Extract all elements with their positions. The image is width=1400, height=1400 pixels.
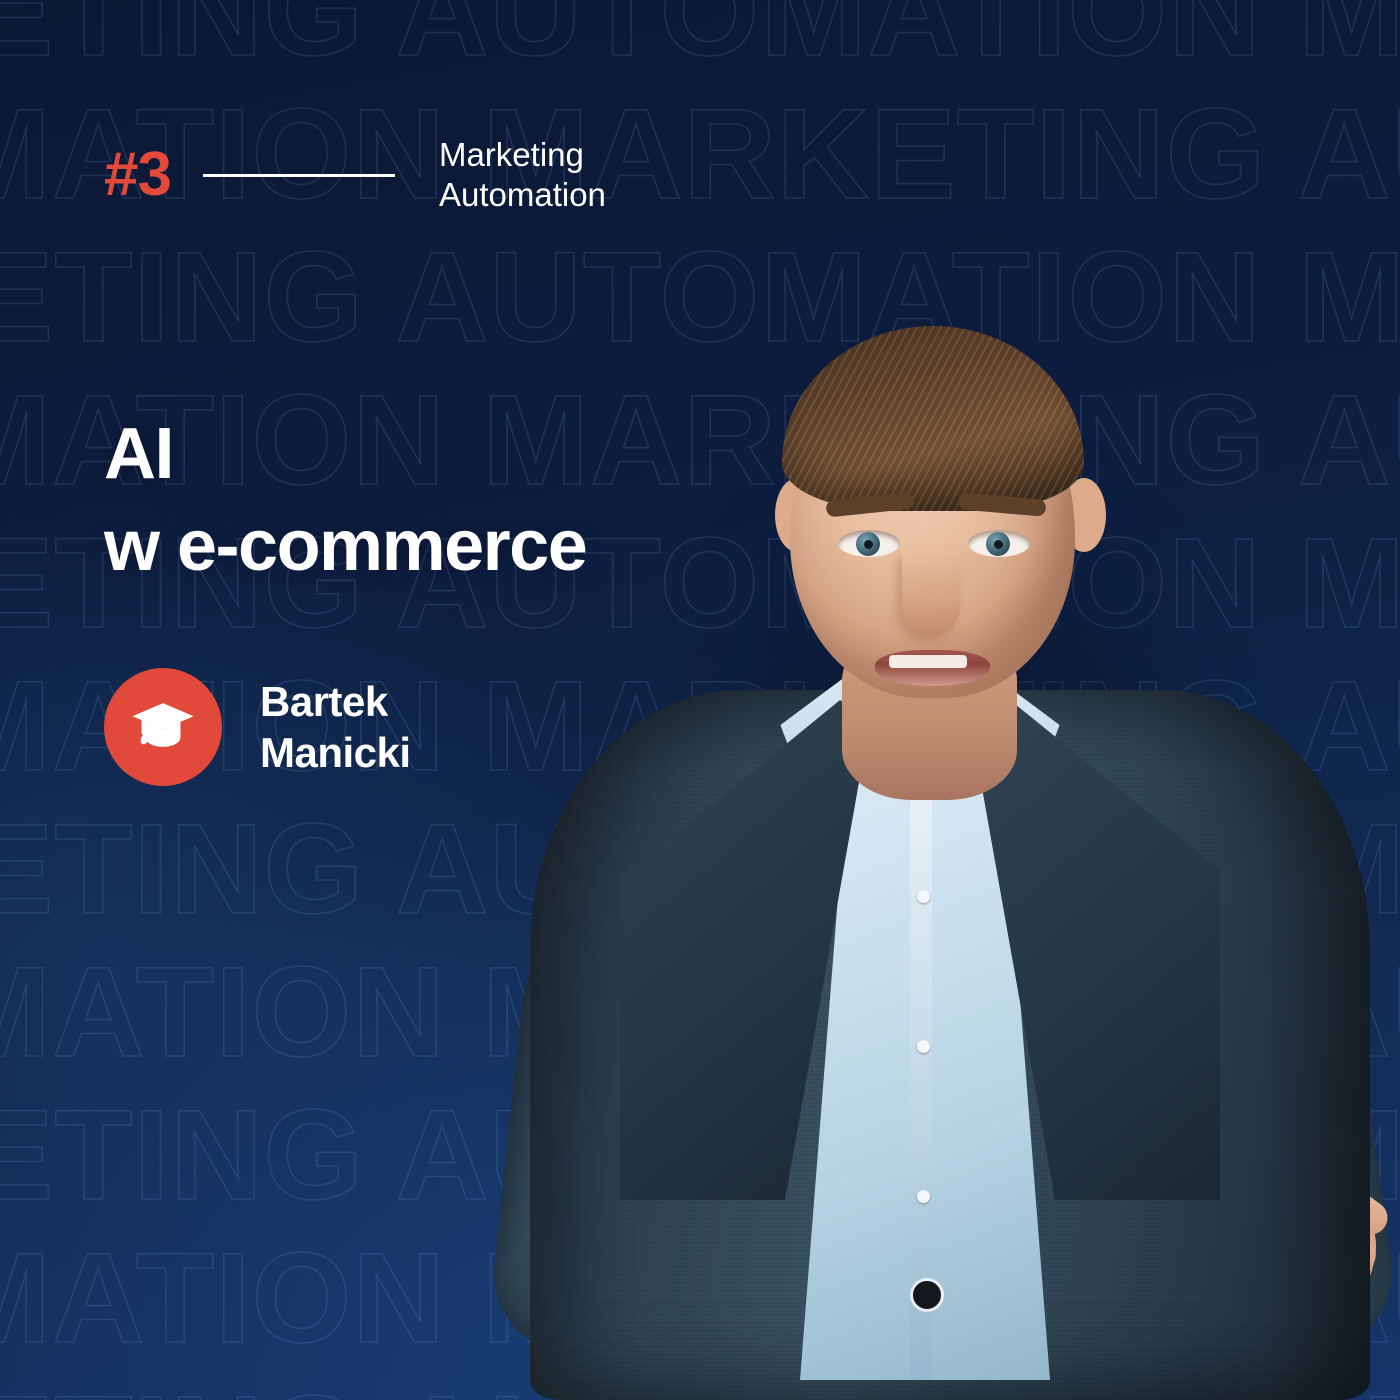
right-eye <box>968 530 1030 557</box>
shirt-button <box>917 1040 930 1053</box>
graduation-cap-icon <box>128 690 198 765</box>
episode-header: #3 Marketing Automation <box>104 135 606 216</box>
nose <box>902 550 960 636</box>
author-block: Bartek Manicki <box>104 668 411 786</box>
page-title: AI w e-commerce <box>104 408 586 592</box>
blazer-button <box>910 1278 944 1312</box>
speaker-photo <box>470 250 1400 1400</box>
shirt-button <box>917 1190 930 1203</box>
pattern-row: MARKETING AUTOMATION MARKETING AUTOMATIO… <box>0 0 1400 83</box>
author-name: Bartek Manicki <box>260 676 411 778</box>
left-eye <box>838 530 900 557</box>
shirt-button <box>917 890 930 903</box>
header-divider-rule <box>203 174 395 177</box>
podcast-cover-artwork: MARKETING AUTOMATION MARKETING AUTOMATIO… <box>0 0 1400 1400</box>
series-label: Marketing Automation <box>439 135 606 216</box>
author-avatar <box>104 668 222 786</box>
episode-number: #3 <box>104 144 171 206</box>
mouth <box>875 650 990 686</box>
